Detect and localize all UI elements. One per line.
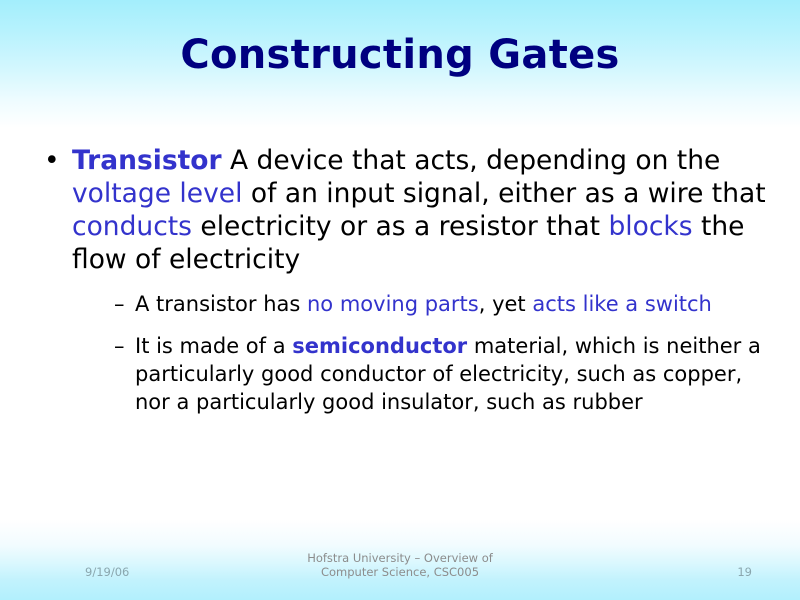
text-run: A device that acts, depending on the [222, 145, 721, 176]
bullet-text-level2-2: It is made of a semiconductor material, … [135, 334, 761, 414]
slide-footer: 9/19/06 Hofstra University – Overview of… [0, 545, 800, 600]
text-run: electricity or as a resistor that [192, 211, 608, 242]
footer-source-line1: Hofstra University – Overview of [0, 551, 800, 565]
text-run: , yet [479, 292, 533, 316]
slide-title: Constructing Gates [0, 34, 800, 76]
text-run: A transistor has [135, 292, 307, 316]
bullet-item-level1: • Transistor A device that acts, dependi… [40, 144, 770, 416]
bullet-marker-icon: • [44, 144, 60, 177]
bullet-item-level2-2: – It is made of a semiconductor material… [114, 332, 770, 416]
dash-marker-icon: – [114, 290, 125, 318]
text-run: conducts [72, 211, 192, 242]
text-run: no moving parts [307, 292, 479, 316]
bullet-text-level1: Transistor A device that acts, depending… [72, 145, 766, 275]
text-run: of an input signal, either as a wire tha… [242, 178, 765, 209]
sub-bullet-list: – A transistor has no moving parts, yet … [72, 290, 770, 416]
text-run: Transistor [72, 145, 222, 176]
text-run: It is made of a [135, 334, 292, 358]
slide-canvas: Constructing Gates • Transistor A device… [0, 0, 800, 600]
text-run: blocks [608, 211, 692, 242]
text-run: semiconductor [292, 334, 467, 358]
text-run: voltage level [72, 178, 242, 209]
footer-page-number: 19 [737, 565, 752, 579]
dash-marker-icon: – [114, 332, 125, 360]
text-run: acts like a switch [532, 292, 712, 316]
slide-body: • Transistor A device that acts, dependi… [40, 144, 770, 430]
bullet-item-level2-1: – A transistor has no moving parts, yet … [114, 290, 770, 318]
footer-source: Hofstra University – Overview of Compute… [0, 551, 800, 579]
bullet-text-level2-1: A transistor has no moving parts, yet ac… [135, 292, 712, 316]
footer-source-line2: Computer Science, CSC005 [0, 565, 800, 579]
